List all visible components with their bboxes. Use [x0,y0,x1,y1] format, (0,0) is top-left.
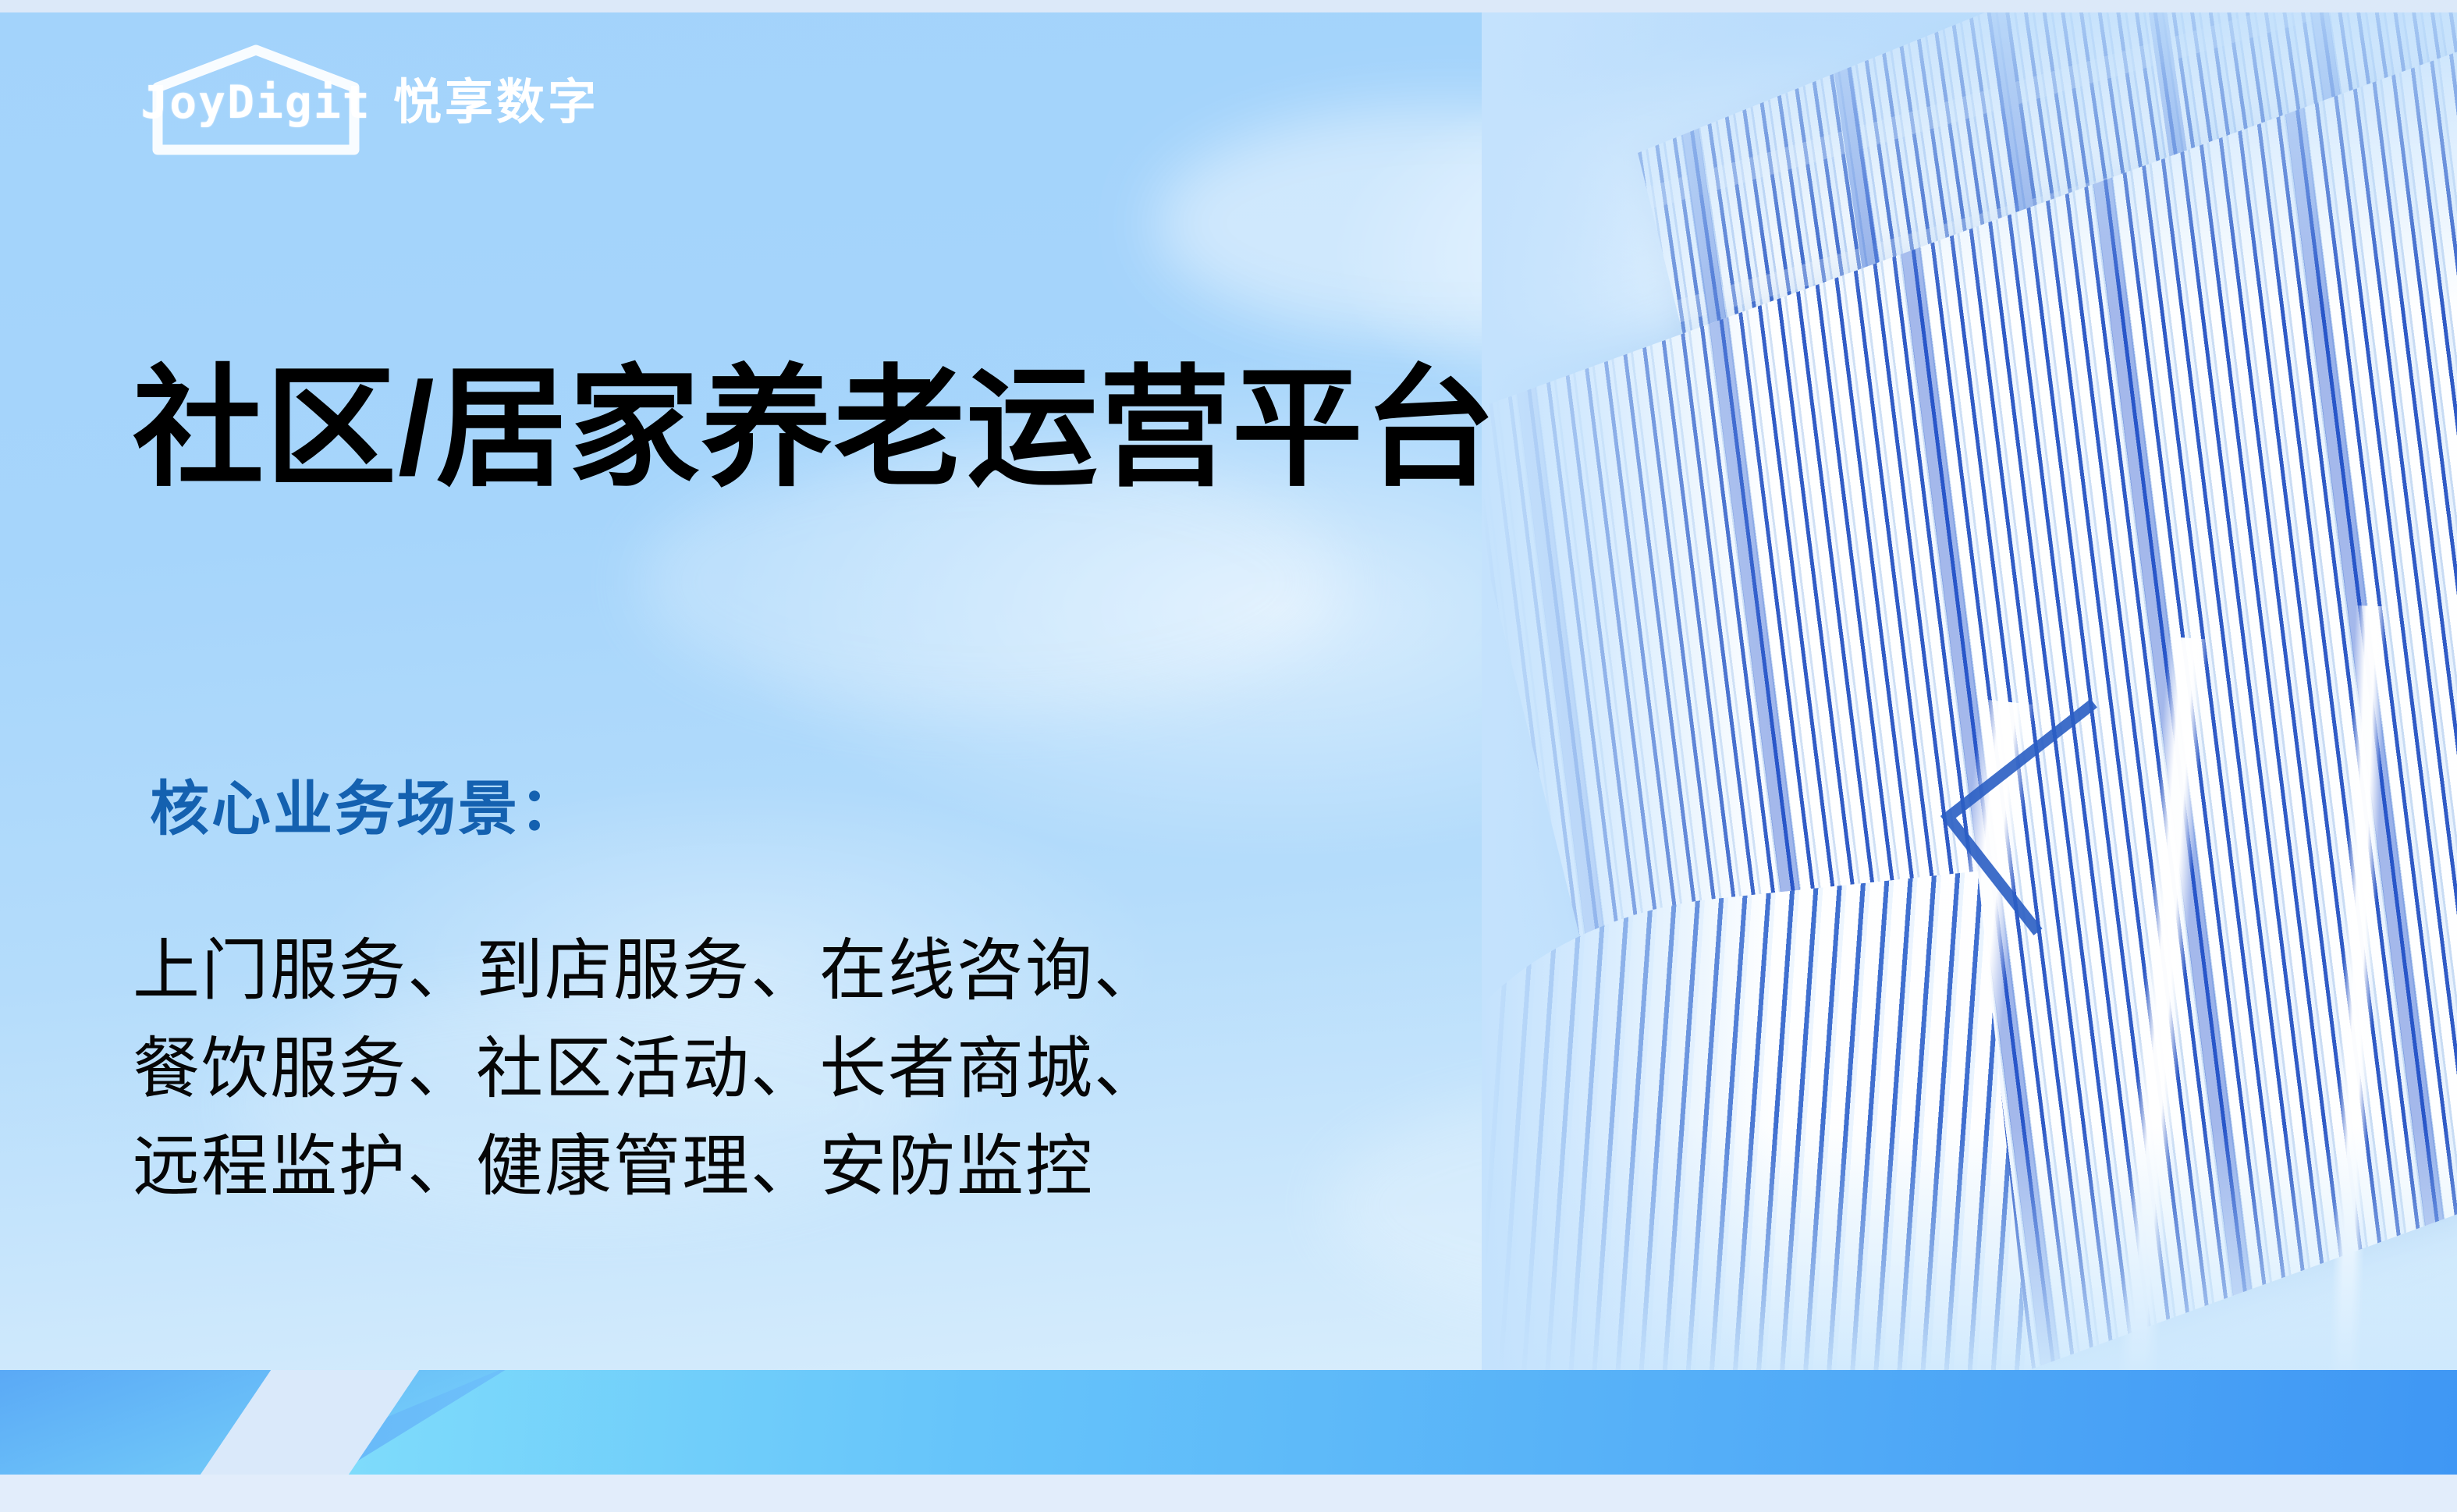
scenario-line: 远程监护、健康管理、安防监控 [133,1118,1163,1216]
logo-chinese-name: 悦享数字 [393,79,599,130]
scenario-line: 餐饮服务、社区活动、长者商城、 [133,1020,1163,1119]
slide-canvas: JoyDigit 悦享数字 社区/居家养老运营平台 核心业务场景： 上门服务、到… [0,0,2457,1512]
top-edge-strip [0,0,2457,12]
scenario-list: 上门服务、到店服务、在线咨询、 餐饮服务、社区活动、长者商城、 远程监护、健康管… [133,922,1163,1216]
section-subtitle: 核心业务场景： [150,780,581,839]
tower-curved-facade [1482,871,2040,1370]
logo-wordmark: JoyDigit [139,80,373,125]
bottom-decorative-band [0,1370,2457,1475]
band-right-panel [336,1370,2457,1475]
scenario-line: 上门服务、到店服务、在线咨询、 [133,922,1163,1020]
brand-logo: JoyDigit 悦享数字 [139,69,599,140]
page-title: 社区/居家养老运营平台 [133,358,1497,499]
logo-mark: JoyDigit [139,69,373,140]
office-tower-photo [1482,12,2457,1370]
footer-strip [0,1475,2457,1512]
